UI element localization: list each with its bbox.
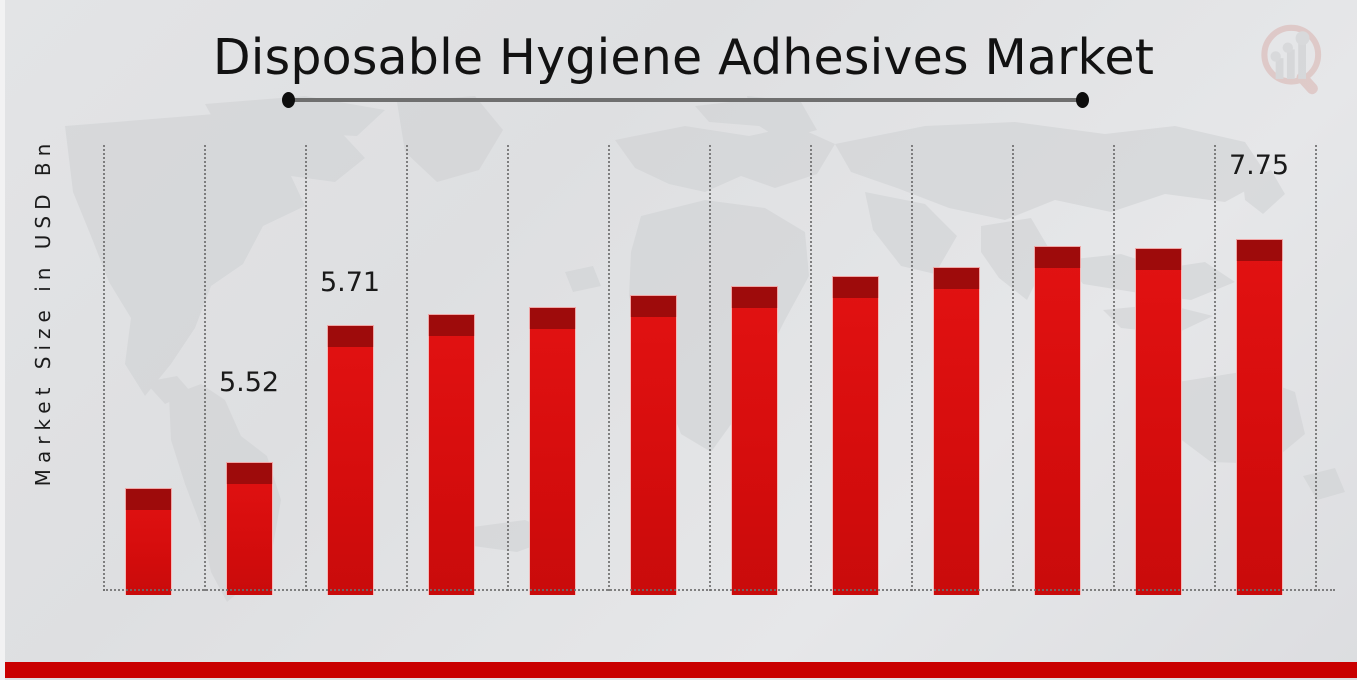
bar [529,307,576,595]
gridline [507,145,509,591]
bar-cap [832,276,879,298]
bar-cap [327,325,374,347]
bar-cap [226,462,273,484]
bar [832,276,879,595]
bar [933,267,980,595]
gridline [709,145,711,591]
gridline [1113,145,1115,591]
bar-cap [529,307,576,329]
magnifier-bar-chart-logo-icon [1247,20,1339,98]
gridline [1214,145,1216,591]
plot-area: 20235.5220245.71202520262027202820292030… [103,145,1333,591]
bar [226,462,273,595]
gridline [810,145,812,591]
bar-cap [933,267,980,289]
bar [1135,248,1182,595]
bar-value-label: 5.52 [189,367,309,398]
footer-bar [5,662,1357,678]
bar-cap [125,488,172,510]
bar [630,295,677,595]
chart-poster: Disposable Hygiene Adhesives Market Mark… [0,0,1357,680]
bar-cap [630,295,677,317]
gridline [103,145,105,591]
bar-value-label: 5.71 [290,267,410,298]
title-divider [288,98,1083,102]
bar-cap [428,314,475,336]
y-axis-title: Market Size in USD Bn [31,102,55,522]
bar [731,286,778,595]
page-title: Disposable Hygiene Adhesives Market [5,28,1357,88]
bar-cap [1135,248,1182,270]
bar-cap [1034,246,1081,268]
x-axis-baseline [103,589,1335,591]
gridline [1012,145,1014,591]
bar [1034,246,1081,595]
bar [428,314,475,595]
bar-cap [731,286,778,308]
bar [1236,239,1283,595]
bar-value-label: 7.75 [1199,150,1319,181]
gridline [911,145,913,591]
bar [125,488,172,595]
bar [327,325,374,595]
gridline [1315,145,1317,591]
gridline [406,145,408,591]
gridline [608,145,610,591]
bar-cap [1236,239,1283,261]
